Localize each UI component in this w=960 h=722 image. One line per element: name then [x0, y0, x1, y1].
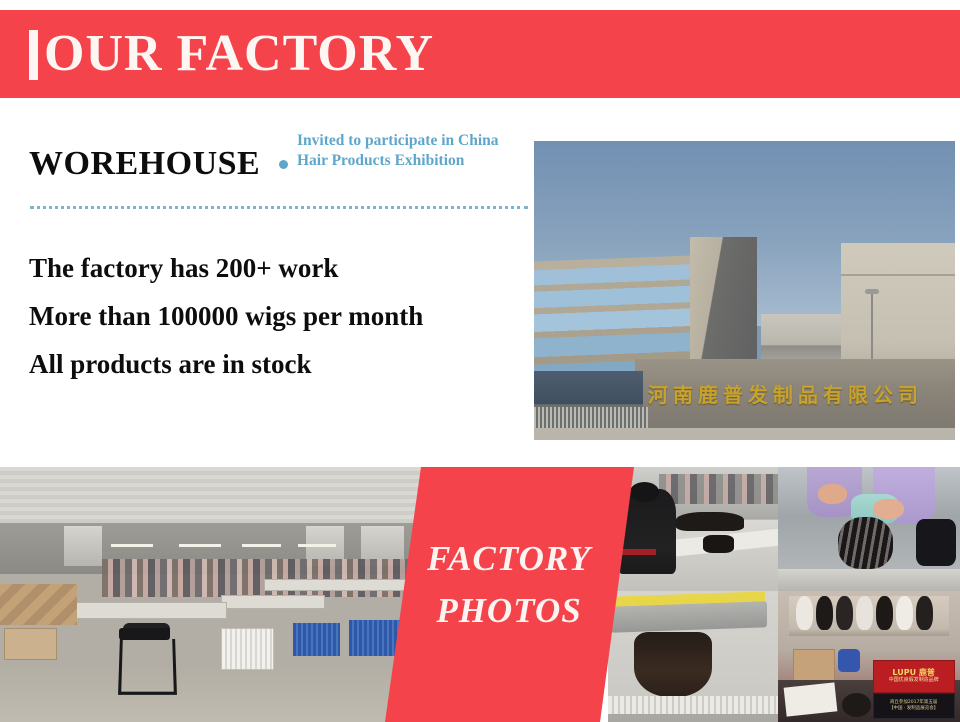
photo-worker-sorting-hair: [608, 467, 778, 591]
exhibition-invitation-text: Invited to participate in China Hair Pro…: [297, 131, 532, 171]
floor: [0, 666, 425, 722]
window: [64, 526, 102, 567]
factory-photos-section: LUPU 鹿普 中国优良假发制造品牌 商丘参加2017年第五届 【中国 · 发制…: [0, 467, 960, 722]
ground: [534, 428, 955, 440]
ceiling-lamp: [298, 544, 336, 547]
fact-line: The factory has 200+ work: [29, 253, 338, 284]
blue-item: [838, 649, 860, 673]
plaque-line-2: 【中国 · 发制品展览会】: [889, 706, 938, 712]
hand: [873, 499, 904, 519]
bullet-dot-icon: [279, 160, 288, 169]
street-lamp-icon: [871, 293, 873, 365]
fact-line: More than 100000 wigs per month: [29, 301, 423, 332]
folding-chair-legs: [118, 639, 177, 695]
factory-photo-grid: LUPU 鹿普 中国优良假发制造品牌 商丘参加2017年第五届 【中国 · 发制…: [608, 467, 960, 722]
hand: [818, 484, 847, 504]
exhibition-plaque: 商丘参加2017年第五届 【中国 · 发制品展览会】: [873, 693, 955, 720]
mannequin-wig: [856, 596, 872, 630]
factory-photos-label-line2: PHOTOS: [378, 585, 640, 637]
mannequin-wig: [876, 596, 892, 630]
factory-photos-banner: FACTORY PHOTOS: [378, 467, 640, 722]
hair-weft-pile: [676, 512, 744, 532]
brand-sign-subtitle: 中国优良假发制造品牌: [889, 677, 939, 684]
page-title: OUR FACTORY: [44, 19, 434, 89]
photo-hair-pressing-machine: [608, 591, 778, 722]
mannequin-wig: [796, 596, 812, 630]
factory-building-photo: 河南鹿普发制品有限公司: [534, 141, 955, 440]
long-hair-bundle: [634, 632, 712, 698]
mannequin-wig: [836, 596, 852, 630]
brand-sign: LUPU 鹿普 中国优良假发制造品牌: [873, 660, 955, 693]
blue-crate: [293, 623, 340, 656]
wig-cap: [838, 517, 893, 569]
machine-edge: [608, 714, 778, 722]
dotted-divider: [30, 206, 528, 209]
worker-head: [630, 482, 659, 502]
header-banner: OUR FACTORY: [0, 10, 960, 98]
factory-photos-label: FACTORY PHOTOS: [378, 533, 640, 637]
ceiling-lamp: [179, 544, 222, 547]
work-bench: [264, 579, 411, 591]
factory-photos-label-line1: FACTORY: [378, 533, 640, 585]
blue-crate: [349, 620, 400, 656]
ceiling-lamp: [111, 544, 154, 547]
brochure: [784, 683, 838, 717]
ceiling-lamp: [242, 544, 280, 547]
entrance-wall: 河南鹿普发制品有限公司: [635, 359, 955, 431]
cardboard-box-stack: [0, 584, 77, 625]
hair-sample: [842, 693, 871, 717]
warehouse-section: WOREHOUSE Invited to participate in Chin…: [0, 98, 960, 467]
photo-hands-assembling-wig: [778, 467, 960, 591]
white-crate: [221, 628, 274, 671]
work-bench: [221, 595, 325, 610]
machine-tray: [608, 696, 778, 714]
fact-line: All products are in stock: [29, 349, 312, 380]
ceiling: [0, 467, 425, 523]
mannequin-wig: [916, 596, 932, 630]
warehouse-heading: WOREHOUSE: [29, 145, 260, 183]
cardboard-box: [4, 628, 57, 661]
company-name-on-wall: 河南鹿普发制品有限公司: [648, 379, 923, 408]
mannequin-wig: [896, 596, 912, 630]
work-counter: [778, 569, 960, 591]
header-accent-bar: [29, 30, 38, 80]
mannequin-wig: [816, 596, 832, 630]
black-hair-bundle: [916, 519, 956, 566]
hair-bundle: [703, 535, 734, 552]
workshop-photo: [0, 467, 425, 722]
red-belt: [618, 549, 655, 555]
background-workers: [659, 474, 778, 504]
photo-wig-display-booth: LUPU 鹿普 中国优良假发制造品牌 商丘参加2017年第五届 【中国 · 发制…: [778, 591, 960, 722]
